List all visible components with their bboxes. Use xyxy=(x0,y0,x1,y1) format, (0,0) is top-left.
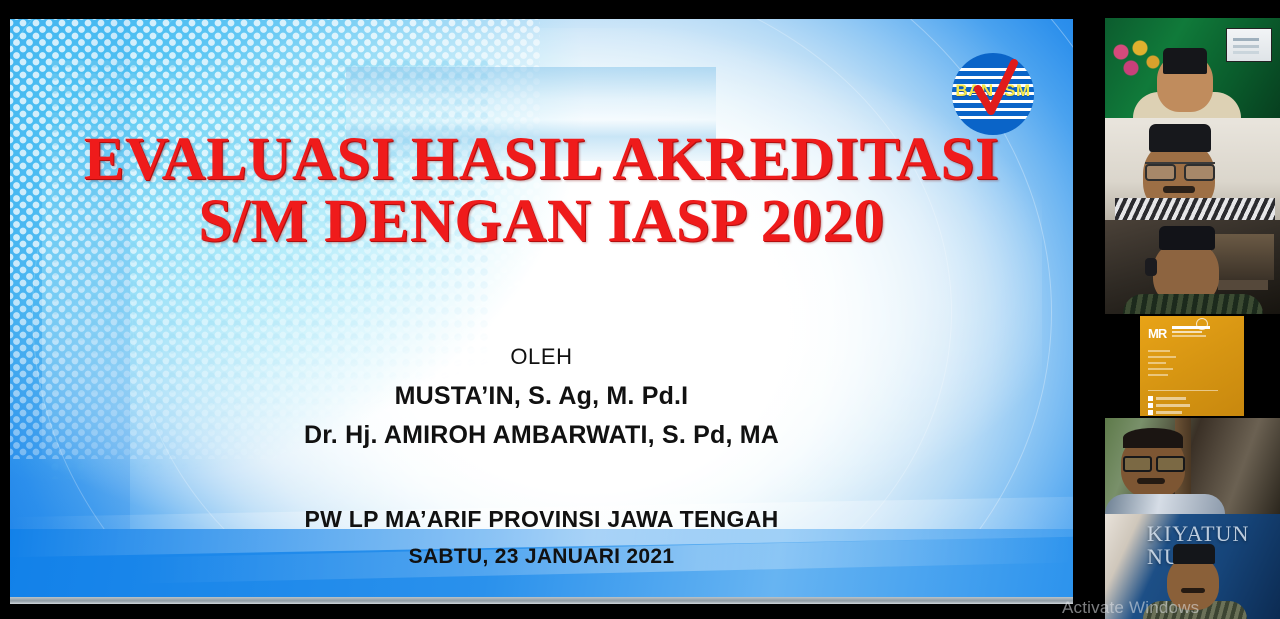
tile-3-person-headset xyxy=(1145,258,1157,276)
presentation-slide: BAN SM EVALUASI HASIL AKREDITASI S/M DEN… xyxy=(10,19,1073,604)
participant-tile-3[interactable] xyxy=(1105,220,1280,314)
tile-2-person-shirt xyxy=(1115,198,1275,220)
tile-6-vb-line-1: KIYATUN xyxy=(1147,522,1249,545)
tile-6-person-mustache xyxy=(1181,588,1205,593)
participant-tile-2[interactable] xyxy=(1105,118,1280,220)
participant-tile-5[interactable] xyxy=(1105,418,1280,514)
tile-4-social-icons xyxy=(1148,396,1208,416)
tile-5-person-glasses xyxy=(1123,456,1185,468)
meeting-screen: BAN SM EVALUASI HASIL AKREDITASI S/M DEN… xyxy=(0,0,1280,619)
slide-title-line-2: S/M DENGAN IASP 2020 xyxy=(10,193,1073,251)
slide-presenter-block: OLEH MUSTA’IN, S. Ag, M. Pd.I Dr. Hj. AM… xyxy=(10,344,1073,460)
tile-6-person-cap xyxy=(1173,544,1215,564)
participant-tile-1[interactable] xyxy=(1105,18,1280,118)
tile-4-brand-mark: MR xyxy=(1148,326,1166,341)
tile-2-person-glasses xyxy=(1145,162,1215,175)
tile-4-divider xyxy=(1148,390,1218,391)
slide-title-line-1: EVALUASI HASIL AKREDITASI xyxy=(10,131,1073,189)
tile-4-text-lines xyxy=(1148,350,1184,380)
checkmark-icon xyxy=(972,59,1018,121)
tile-6-person-head xyxy=(1167,556,1219,610)
tile-4-shared-slide: MR xyxy=(1140,316,1244,416)
presenter-name-2: Dr. Hj. AMIROH AMBARWATI, S. Pd, MA xyxy=(10,421,1073,450)
ban-sm-logo: BAN SM xyxy=(952,53,1034,135)
tile-1-monitor xyxy=(1226,28,1272,62)
slide-title: EVALUASI HASIL AKREDITASI S/M DENGAN IAS… xyxy=(10,131,1073,251)
tile-3-person-body xyxy=(1123,294,1263,314)
organization-name: PW LP MA’ARIF PROVINSI JAWA TENGAH xyxy=(10,506,1073,533)
tile-1-decoration xyxy=(1109,38,1161,78)
participant-video-strip[interactable]: MR KIYATUN NU xyxy=(1105,0,1280,619)
tile-5-person-shirt xyxy=(1105,494,1225,514)
participant-tile-4[interactable]: MR xyxy=(1105,314,1280,418)
tile-3-shelf xyxy=(1212,234,1274,280)
slide-bottom-rule xyxy=(10,597,1073,604)
tile-2-person-mustache xyxy=(1163,186,1195,193)
tile-3-person-cap xyxy=(1159,226,1215,250)
tile-5-person-mustache xyxy=(1137,478,1165,484)
participant-tile-6[interactable]: KIYATUN NU xyxy=(1105,514,1280,619)
presenter-name-1: MUSTA’IN, S. Ag, M. Pd.I xyxy=(10,382,1073,411)
tile-5-person-hair xyxy=(1123,428,1183,448)
shared-screen-stage[interactable]: BAN SM EVALUASI HASIL AKREDITASI S/M DEN… xyxy=(0,0,1073,619)
tile-4-crest-icon xyxy=(1196,318,1208,330)
byline-label: OLEH xyxy=(10,344,1073,370)
tile-4-brand-text xyxy=(1172,326,1216,340)
tile-1-person-cap xyxy=(1163,48,1207,74)
slide-organization-block: PW LP MA’ARIF PROVINSI JAWA TENGAH SABTU… xyxy=(10,506,1073,569)
tile-2-person-cap xyxy=(1149,124,1211,152)
event-date: SABTU, 23 JANUARI 2021 xyxy=(10,545,1073,569)
